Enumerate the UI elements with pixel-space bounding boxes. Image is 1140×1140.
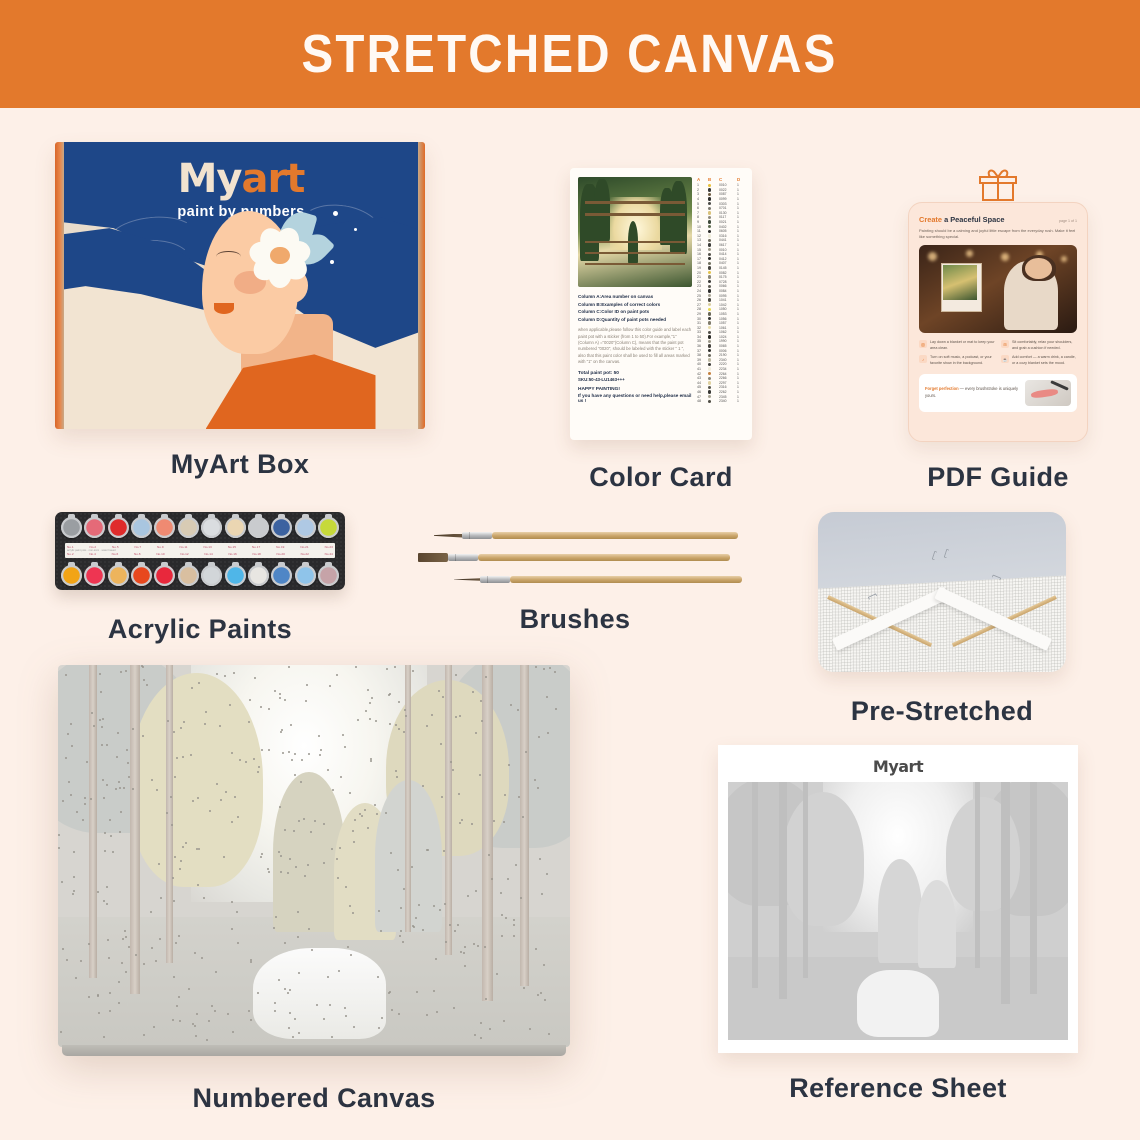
canvas-region-number xyxy=(367,827,369,829)
cell-color-id: 0412 xyxy=(719,257,735,261)
canvas-region-number xyxy=(197,797,199,799)
canvas-region-number xyxy=(279,806,281,808)
cell-color-id: 0099 xyxy=(719,197,735,201)
canvas-region-number xyxy=(378,1027,380,1029)
color-card-row: 2207281 xyxy=(697,279,744,284)
canvas-region-number xyxy=(488,854,490,856)
paint-pot xyxy=(295,517,316,538)
canvas-region-number xyxy=(400,930,402,932)
cell-quantity: 1 xyxy=(737,271,744,275)
product-numbered-canvas: Numbered Canvas xyxy=(58,665,570,1114)
canvas-region-number xyxy=(403,888,405,890)
paint-pot-label: No.24 xyxy=(325,552,333,556)
color-card-row: 2101751 xyxy=(697,275,744,280)
canvas-region-number xyxy=(236,911,238,913)
cell-area-number: 46 xyxy=(697,390,706,394)
canvas-region-number xyxy=(231,821,233,823)
canvas-region-number xyxy=(232,1031,234,1033)
staple-icon xyxy=(931,550,937,559)
cell-color-swatch xyxy=(708,400,717,403)
color-card-row: 503031 xyxy=(697,201,744,206)
canvas-region-number xyxy=(295,866,297,868)
caption-acrylic-paints: Acrylic Paints xyxy=(55,614,345,645)
cell-color-swatch xyxy=(708,275,717,278)
canvas-region-number xyxy=(464,965,466,967)
pdf-header: Create a Peaceful Space page 1 of 1 xyxy=(919,215,1077,224)
canvas-region-number xyxy=(62,800,64,802)
canvas-region-number xyxy=(231,752,233,754)
cell-area-number: 32 xyxy=(697,326,706,330)
paint-pot xyxy=(318,565,339,586)
pdf-tip: ▧Lay down a blanket or mat to keep your … xyxy=(919,340,995,351)
cell-quantity: 1 xyxy=(737,275,744,279)
canvas-region-number xyxy=(485,998,487,1000)
canvas-region-number xyxy=(143,679,145,681)
cell-color-id: 0117 xyxy=(719,215,735,219)
cell-color-swatch xyxy=(708,239,717,242)
color-card-row: 4823401 xyxy=(697,399,744,404)
cell-quantity: 1 xyxy=(737,238,744,242)
cell-color-id: 0082 xyxy=(719,271,735,275)
canvas-region-number xyxy=(73,851,75,853)
color-card-row: 1500101 xyxy=(697,247,744,252)
paint-pot xyxy=(61,565,82,586)
paint-pot xyxy=(271,565,292,586)
canvas-region-number xyxy=(254,677,256,679)
cell-color-swatch xyxy=(708,363,717,366)
col-header-a: A xyxy=(697,177,706,182)
cell-color-swatch xyxy=(708,193,717,196)
canvas-region-number xyxy=(398,1013,400,1015)
canvas-region-number xyxy=(267,868,269,870)
cell-color-id: 2340 xyxy=(719,358,735,362)
cell-color-swatch xyxy=(708,257,717,260)
cloth-icon: ▧ xyxy=(919,340,927,348)
canvas-region-number xyxy=(178,996,180,998)
cell-color-swatch xyxy=(708,303,717,306)
canvas-region-number xyxy=(541,893,543,895)
brush-round xyxy=(434,532,738,539)
canvas-region-number xyxy=(398,728,400,730)
cell-color-id: 2190 xyxy=(719,353,735,357)
canvas-region-number xyxy=(340,776,342,778)
cell-color-id: 0605 xyxy=(719,229,735,233)
color-card-row: 4422971 xyxy=(697,381,744,386)
color-card-row: 1304411 xyxy=(697,238,744,243)
canvas-region-number xyxy=(175,942,177,944)
cell-area-number: 29 xyxy=(697,312,706,316)
canvas-region-number xyxy=(98,1012,100,1014)
canvas-region-number xyxy=(467,895,469,897)
canvas-region-number xyxy=(435,958,437,960)
canvas-region-number xyxy=(142,735,144,737)
color-card-row: 1604141 xyxy=(697,252,744,257)
cell-color-swatch xyxy=(708,271,717,274)
canvas-region-number xyxy=(261,749,263,751)
canvas-region-number xyxy=(415,917,417,919)
cell-color-id: 0087 xyxy=(719,192,735,196)
canvas-region-number xyxy=(331,848,333,850)
cell-quantity: 1 xyxy=(737,312,744,316)
cell-quantity: 1 xyxy=(737,317,744,321)
color-card-table: A B C D 10010120022130087140099150303160… xyxy=(697,177,744,431)
cell-area-number: 28 xyxy=(697,307,706,311)
brushes-image xyxy=(410,528,740,590)
cell-quantity: 1 xyxy=(737,390,744,394)
drink-icon: ☕ xyxy=(1001,355,1009,363)
paint-pot-label: No.22 xyxy=(301,552,309,556)
color-card-row: 2300661 xyxy=(697,284,744,289)
paint-pot-label: No.8 xyxy=(134,552,141,556)
canvas-region-number xyxy=(400,907,402,909)
cell-color-swatch xyxy=(708,225,717,228)
cell-quantity: 1 xyxy=(737,307,744,311)
cell-color-swatch xyxy=(708,321,717,324)
paint-pot xyxy=(154,565,175,586)
reference-sheet-logo: Myart xyxy=(728,757,1068,776)
canvas-region-number xyxy=(209,810,211,812)
canvas-region-number xyxy=(288,1027,290,1029)
canvas-region-number xyxy=(475,732,477,734)
cell-area-number: 17 xyxy=(697,257,706,261)
pdf-title-accent: Create xyxy=(919,215,942,224)
legend-line-d: Column D:Quantity of paint pots needed xyxy=(578,316,692,324)
cell-color-id: 1041 xyxy=(719,298,735,302)
caption-brushes: Brushes xyxy=(410,604,740,635)
cell-color-swatch xyxy=(708,211,717,214)
cell-color-id: 2340 xyxy=(719,399,735,403)
color-card-row: 3600651 xyxy=(697,344,744,349)
cell-area-number: 24 xyxy=(697,289,706,293)
paint-pot xyxy=(84,517,105,538)
paint-pot xyxy=(318,517,339,538)
staple-icon xyxy=(944,549,950,558)
pdf-tip-text: Sit comfortably, relax your shoulders, a… xyxy=(1012,340,1077,351)
canvas-region-number xyxy=(249,699,251,701)
color-card-row: 701301 xyxy=(697,211,744,216)
canvas-region-number xyxy=(110,835,112,837)
cell-area-number: 11 xyxy=(697,229,706,233)
cell-color-swatch xyxy=(708,390,717,393)
cell-color-swatch xyxy=(708,358,717,361)
canvas-region-number xyxy=(344,746,346,748)
product-pdf-guide: Create a Peaceful Space page 1 of 1 Pain… xyxy=(908,168,1088,493)
cell-quantity: 1 xyxy=(737,183,744,187)
color-card-legend: Column A:Area number on canvas Column B:… xyxy=(578,293,692,403)
color-card-row: 3410241 xyxy=(697,335,744,340)
cell-quantity: 1 xyxy=(737,257,744,261)
canvas-region-number xyxy=(99,719,101,721)
pdf-tip-text: Turn on soft music, a podcast, or your f… xyxy=(930,355,995,366)
cell-quantity: 1 xyxy=(737,248,744,252)
color-card-row: 1406171 xyxy=(697,243,744,248)
paint-pot xyxy=(84,565,105,586)
canvas-region-number xyxy=(305,700,307,702)
cell-area-number: 1 xyxy=(697,183,706,187)
canvas-region-number xyxy=(357,719,359,721)
canvas-region-number xyxy=(314,820,316,822)
canvas-region-number xyxy=(459,822,461,824)
pdf-title-rest: a Peaceful Space xyxy=(942,215,1004,224)
canvas-region-number xyxy=(405,715,407,717)
cell-color-id: 2297 xyxy=(719,381,735,385)
cell-area-number: 33 xyxy=(697,330,706,334)
cell-area-number: 30 xyxy=(697,317,706,321)
cell-color-swatch xyxy=(708,207,717,210)
callout-accent: Forget perfection xyxy=(925,386,959,391)
canvas-region-number xyxy=(515,864,517,866)
cell-color-id: 1056 xyxy=(719,317,735,321)
paint-pot-label: No.6 xyxy=(112,552,119,556)
canvas-region-number xyxy=(504,794,506,796)
canvas-region-number xyxy=(172,877,174,879)
cell-quantity: 1 xyxy=(737,229,744,233)
pre-stretched-photo xyxy=(818,512,1066,672)
cell-area-number: 26 xyxy=(697,298,706,302)
cell-area-number: 40 xyxy=(697,362,706,366)
sku-code: SKU:50-43-LU1463+++ xyxy=(578,377,692,382)
cell-color-id: 1062 xyxy=(719,330,735,334)
cell-quantity: 1 xyxy=(737,358,744,362)
cell-area-number: 36 xyxy=(697,344,706,348)
cell-color-swatch xyxy=(708,248,717,251)
canvas-region-number xyxy=(174,776,176,778)
paint-pot xyxy=(295,565,316,586)
color-card-row: 3700061 xyxy=(697,348,744,353)
canvas-region-number xyxy=(500,892,502,894)
canvas-region-number xyxy=(194,952,196,954)
cell-color-swatch xyxy=(708,220,717,223)
cell-color-id: 0414 xyxy=(719,252,735,256)
canvas-region-number xyxy=(537,994,539,996)
cell-color-swatch xyxy=(708,202,717,205)
canvas-region-number xyxy=(122,938,124,940)
paint-pot xyxy=(131,517,152,538)
canvas-region-number xyxy=(546,696,548,698)
canvas-region-number xyxy=(520,897,522,899)
canvas-region-number xyxy=(381,1017,383,1019)
canvas-region-number xyxy=(65,674,67,676)
paint-pot xyxy=(131,565,152,586)
cell-color-swatch xyxy=(708,349,717,352)
canvas-region-number xyxy=(398,701,400,703)
cell-quantity: 1 xyxy=(737,243,744,247)
cell-color-id: 0145 xyxy=(719,266,735,270)
cell-color-swatch xyxy=(708,335,717,338)
cell-area-number: 45 xyxy=(697,385,706,389)
color-card-row: 4622621 xyxy=(697,390,744,395)
eyebrow xyxy=(216,251,241,262)
cell-area-number: 7 xyxy=(697,211,706,215)
canvas-region-number xyxy=(261,853,263,855)
canvas-region-number xyxy=(239,759,241,761)
canvas-region-number xyxy=(539,858,541,860)
paint-pot xyxy=(248,517,269,538)
canvas-region-number xyxy=(106,886,108,888)
pdf-page-label: page 1 of 1 xyxy=(1059,219,1077,223)
paint-pot xyxy=(248,565,269,586)
cell-color-swatch xyxy=(708,354,717,357)
cell-area-number: 18 xyxy=(697,261,706,265)
cell-area-number: 21 xyxy=(697,275,706,279)
canvas-region-number xyxy=(422,785,424,787)
cell-quantity: 1 xyxy=(737,335,744,339)
paint-pot xyxy=(178,517,199,538)
pdf-tip-text: Lay down a blanket or mat to keep your a… xyxy=(930,340,995,351)
caption-color-card: Color Card xyxy=(570,462,752,493)
total-paint-pot: Total paint pot: 50 xyxy=(578,370,692,377)
cell-quantity: 1 xyxy=(737,344,744,348)
cell-quantity: 1 xyxy=(737,234,744,238)
cell-quantity: 1 xyxy=(737,395,744,399)
canvas-region-number xyxy=(97,995,99,997)
canvas-region-number xyxy=(443,850,445,852)
pdf-tip: ♪Turn on soft music, a podcast, or your … xyxy=(919,355,995,366)
canvas-region-number xyxy=(142,666,144,668)
cell-area-number: 35 xyxy=(697,339,706,343)
cell-quantity: 1 xyxy=(737,261,744,265)
product-acrylic-paints: No.1No.2No.5No.7No.9No.11No.13No.15No.17… xyxy=(55,512,345,645)
canvas-region-number xyxy=(513,919,515,921)
cell-color-swatch xyxy=(708,266,717,269)
canvas-region-number xyxy=(433,905,435,907)
canvas-region-number xyxy=(58,847,60,849)
canvas-region-number xyxy=(543,668,545,670)
canvas-region-number xyxy=(73,890,75,892)
cell-quantity: 1 xyxy=(737,362,744,366)
cell-quantity: 1 xyxy=(737,399,744,403)
cell-color-swatch xyxy=(708,216,717,219)
canvas-region-number xyxy=(323,1018,325,1020)
cell-area-number: 4 xyxy=(697,197,706,201)
canvas-region-number xyxy=(173,731,175,733)
product-myart-box: Myart paint by numbers MyArt Box xyxy=(55,142,425,480)
pdf-photo xyxy=(919,245,1077,333)
canvas-region-number xyxy=(115,788,117,790)
help-text: If you have any questions or need help,p… xyxy=(578,393,692,403)
product-brushes: Brushes xyxy=(410,528,740,635)
canvas-region-number xyxy=(474,1034,476,1036)
canvas-region-number xyxy=(426,725,428,727)
infographic-page: STRETCHED CANVAS xyxy=(0,0,1140,1140)
paint-pot-row-top xyxy=(61,517,339,538)
canvas-region-number xyxy=(280,731,282,733)
cell-color-id: 1053 xyxy=(719,312,735,316)
canvas-region-number xyxy=(329,685,331,687)
cell-area-number: 14 xyxy=(697,243,706,247)
color-card-row: 3519901 xyxy=(697,339,744,344)
canvas-region-number xyxy=(68,781,70,783)
color-card-row: 300871 xyxy=(697,192,744,197)
cell-area-number: 41 xyxy=(697,367,706,371)
myart-box-image: Myart paint by numbers xyxy=(55,142,425,429)
cell-color-swatch xyxy=(708,308,717,311)
canvas-region-number xyxy=(426,1014,428,1016)
cell-color-swatch xyxy=(708,395,717,398)
cell-color-swatch xyxy=(708,312,717,315)
color-card-row: 3210611 xyxy=(697,325,744,330)
cell-color-swatch xyxy=(708,184,717,187)
canvas-region-number xyxy=(73,876,75,878)
cell-color-swatch xyxy=(708,280,717,283)
canvas-region-number xyxy=(320,749,322,751)
music-icon: ♪ xyxy=(919,355,927,363)
canvas-region-number xyxy=(61,881,63,883)
cell-area-number: 10 xyxy=(697,225,706,229)
col-header-c: C xyxy=(719,177,735,182)
paint-pot-label: No.2 xyxy=(67,552,74,556)
cell-color-swatch xyxy=(708,230,717,233)
cell-quantity: 1 xyxy=(737,289,744,293)
canvas-region-number xyxy=(100,691,102,693)
canvas-region-number xyxy=(104,850,106,852)
cell-color-id: 0407 xyxy=(719,261,735,265)
canvas-region-number xyxy=(513,935,515,937)
canvas-region-number xyxy=(389,693,391,695)
paint-pot-label: No.14 xyxy=(204,552,212,556)
cell-color-id: 2316 xyxy=(719,385,735,389)
paint-pot-label: No.10 xyxy=(156,552,164,556)
canvas-region-number xyxy=(275,916,277,918)
canvas-region-number xyxy=(359,813,361,815)
cell-color-id: 0010 xyxy=(719,248,735,252)
color-card-row: 3110571 xyxy=(697,321,744,326)
cell-area-number: 34 xyxy=(697,335,706,339)
canvas-region-number xyxy=(72,893,74,895)
canvas-region-number xyxy=(65,757,67,759)
cell-quantity: 1 xyxy=(737,188,744,192)
color-card-row: 1704121 xyxy=(697,257,744,262)
happy-painting-text: HAPPY PAINTING! xyxy=(578,387,692,392)
reference-sheet-paper: Myart xyxy=(718,745,1078,1053)
canvas-region-number xyxy=(215,971,217,973)
canvas-region-number xyxy=(103,797,105,799)
cell-quantity: 1 xyxy=(737,197,744,201)
cell-area-number: 25 xyxy=(697,294,706,298)
cell-color-swatch xyxy=(708,377,717,380)
color-card-row: 2000821 xyxy=(697,270,744,275)
canvas-region-number xyxy=(172,1019,174,1021)
cell-color-swatch xyxy=(708,243,717,246)
cell-quantity: 1 xyxy=(737,294,744,298)
canvas-region-number xyxy=(365,710,367,712)
col-header-b: B xyxy=(708,177,717,182)
pdf-guide-sheet: Create a Peaceful Space page 1 of 1 Pain… xyxy=(908,202,1088,442)
paint-pot-label: No.20 xyxy=(277,552,285,556)
color-card-row: 4022201 xyxy=(697,362,744,367)
cell-color-swatch xyxy=(708,197,717,200)
canvas-region-number xyxy=(112,851,114,853)
cell-color-swatch xyxy=(708,340,717,343)
color-card-row: 3010561 xyxy=(697,316,744,321)
canvas-region-number xyxy=(554,671,556,673)
paint-pot-label: No.18 xyxy=(253,552,261,556)
canvas-region-number xyxy=(102,718,104,720)
canvas-region-number xyxy=(176,1005,178,1007)
cell-quantity: 1 xyxy=(737,192,744,196)
myart-logo: Myart xyxy=(64,156,418,202)
cell-color-id: 2345 xyxy=(719,395,735,399)
canvas-region-number xyxy=(294,1018,296,1020)
canvas-region-number xyxy=(390,852,392,854)
canvas-region-number xyxy=(503,821,505,823)
canvas-region-number xyxy=(336,858,338,860)
canvas-region-number xyxy=(173,900,175,902)
color-card-row: 801171 xyxy=(697,215,744,220)
cell-color-id: 2234 xyxy=(719,367,735,371)
canvas-region-number xyxy=(543,964,545,966)
canvas-region-number xyxy=(108,957,110,959)
